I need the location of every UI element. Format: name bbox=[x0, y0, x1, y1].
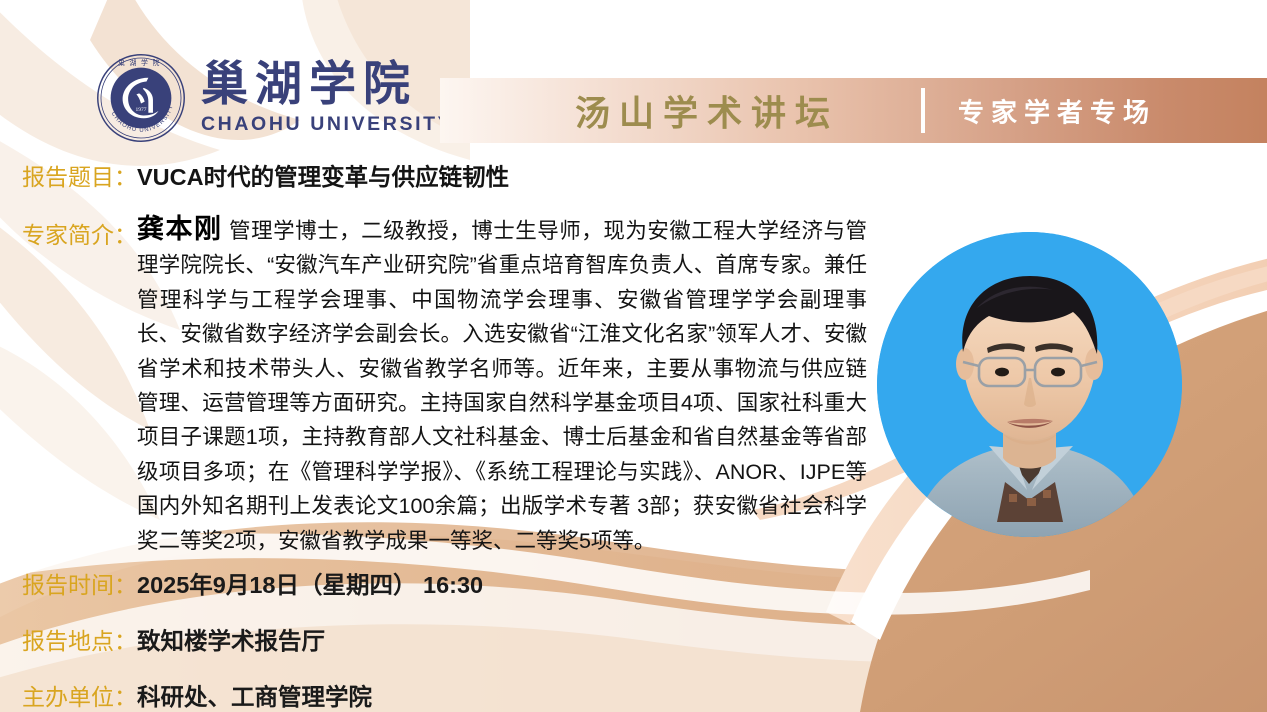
speaker-portrait bbox=[877, 232, 1182, 537]
logo-name-cn: 巢湖学院 bbox=[201, 61, 453, 108]
lecture-host-value: 科研处、工商管理学院 bbox=[137, 678, 372, 712]
speaker-bio-text: 龚本刚 管理学博士，二级教授，博士生导师，现为安徽工程大学经济与管理学院院长、“… bbox=[137, 212, 867, 558]
svg-text:巢湖学院: 巢湖学院 bbox=[118, 58, 164, 67]
lecture-title-row: 报告题目： VUCA时代的管理变革与供应链韧性 bbox=[22, 158, 509, 192]
poster-canvas: 1977 巢湖学院 CHAOHU UNIVERSITY 巢湖学院 CHAOHU … bbox=[0, 0, 1267, 712]
speaker-portrait-image bbox=[877, 232, 1182, 537]
logo-name-en: CHAOHU UNIVERSITY bbox=[201, 113, 453, 136]
svg-text:1977: 1977 bbox=[135, 107, 146, 113]
lecture-place-value: 致知楼学术报告厅 bbox=[137, 622, 325, 656]
lecture-time-label: 报告时间： bbox=[22, 566, 137, 600]
lecture-title-value: VUCA时代的管理变革与供应链韧性 bbox=[137, 158, 509, 192]
banner-subtitle: 专家学者专场 bbox=[958, 92, 1156, 129]
lecture-place-row: 报告地点： 致知楼学术报告厅 bbox=[22, 622, 325, 656]
lecture-host-label: 主办单位： bbox=[22, 678, 137, 712]
speaker-bio-body: 管理学博士，二级教授，博士生导师，现为安徽工程大学经济与管理学院院长、“安徽汽车… bbox=[137, 219, 867, 553]
university-seal-icon: 1977 巢湖学院 CHAOHU UNIVERSITY bbox=[95, 52, 187, 144]
lecture-time-value: 2025年9月18日（星期四） 16:30 bbox=[137, 566, 483, 600]
lecture-place-label: 报告地点： bbox=[22, 622, 137, 656]
lecture-title-label: 报告题目： bbox=[22, 158, 137, 192]
poster-header: 1977 巢湖学院 CHAOHU UNIVERSITY 巢湖学院 CHAOHU … bbox=[0, 0, 1267, 150]
lecture-host-row: 主办单位： 科研处、工商管理学院 bbox=[22, 678, 372, 712]
university-logo: 1977 巢湖学院 CHAOHU UNIVERSITY 巢湖学院 CHAOHU … bbox=[95, 52, 453, 144]
forum-banner: 汤山学术讲坛 专家学者专场 bbox=[440, 78, 1267, 143]
banner-divider bbox=[921, 88, 925, 133]
speaker-name: 龚本刚 bbox=[137, 214, 223, 244]
banner-title: 汤山学术讲坛 bbox=[575, 85, 839, 136]
logo-wordmark: 巢湖学院 CHAOHU UNIVERSITY bbox=[201, 61, 453, 136]
lecture-time-row: 报告时间： 2025年9月18日（星期四） 16:30 bbox=[22, 566, 483, 600]
speaker-bio-label: 专家简介： bbox=[22, 212, 137, 250]
